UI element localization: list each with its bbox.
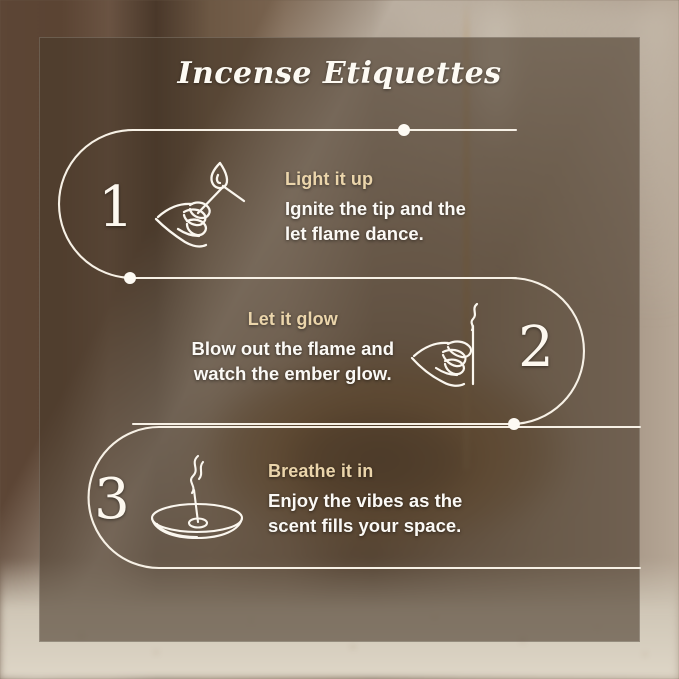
step-text-3: Breathe it in Enjoy the vibes as the sce… [268,461,462,538]
hand-holding-lit-match-icon [148,155,263,260]
step-item-2: Let it glow Blow out the flame and watch… [140,300,560,395]
step-heading-3: Breathe it in [268,461,462,482]
step-item-3: 3 Breathe it in Enjoy the vibes as the s… [88,450,548,550]
step-heading-2: Let it glow [192,309,394,330]
incense-stick-in-dish-icon [142,450,252,550]
step-number-1: 1 [92,180,140,236]
step-heading-1: Light it up [285,169,466,190]
step-text-2: Let it glow Blow out the flame and watch… [192,309,394,386]
step-number-3: 3 [88,472,136,528]
step-text-1: Light it up Ignite the tip and the let f… [285,169,466,246]
page-title: Incense Etiquettes [40,56,639,91]
step-body-1: Ignite the tip and the let flame dance. [285,197,466,246]
step-body-2: Blow out the flame and watch the ember g… [192,337,394,386]
step-item-1: 1 Light it up Ignite the tip and the let… [92,155,542,260]
step-number-2: 2 [512,320,560,376]
step-body-3: Enjoy the vibes as the scent fills your … [268,489,462,538]
hand-holding-incense-stick-icon [408,300,508,395]
